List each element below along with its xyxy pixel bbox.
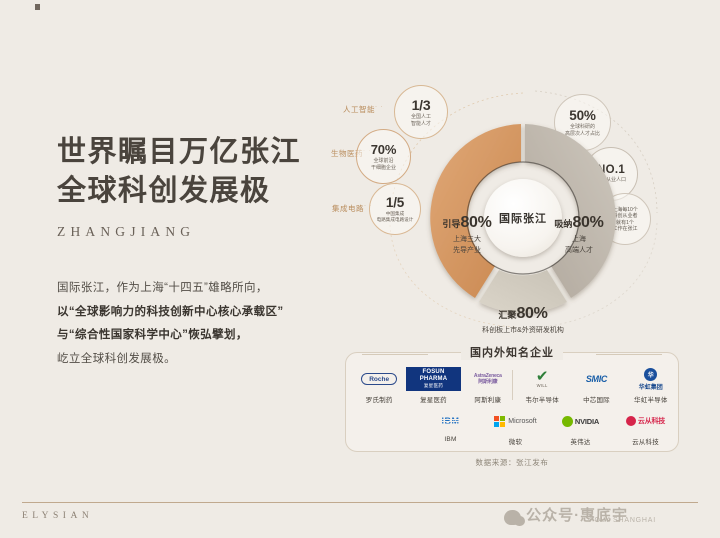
logo-cell-huahong[interactable]: 华华虹集团 华虹半导体 (624, 367, 678, 404)
logo-label: 英伟达 (570, 436, 590, 446)
footer-divider (22, 502, 698, 503)
logo-cell-astrazeneca[interactable]: AstraZeneca阿斯利康 阿斯利康 (461, 367, 515, 404)
segment-label-left: 引导80% 上海三大 先导产业 (419, 213, 515, 256)
bubble-chip-design: 1/5 中国集成电路集成电路设计 (369, 183, 421, 235)
company-panel-title: 国内外知名企业 (461, 344, 563, 360)
logo-label: 韦尔半导体 (525, 394, 559, 404)
donut-infographic: 人工智能 · · 生物医药 · · 集成电路 · · 1/3 全国人工智能人才 … (345, 85, 700, 335)
company-panel: 国内外知名企业 Roche 罗氏制药 FOSUN PHARMA复星医药 复星医药… (345, 352, 679, 452)
body-copy: 国际张江，作为上海“十四五”雄略所向， 以“全球影响力的科技创新中心核心承载区”… (57, 277, 327, 371)
microsoft-logo: Microsoft (494, 409, 536, 433)
logo-label: 中芯国际 (583, 394, 610, 404)
left-text-block: 世界瞩目万亿张江 全球科创发展极 ZHANGJIANG 国际张江，作为上海“十四… (57, 133, 327, 371)
logo-label: 复星医药 (420, 394, 447, 404)
donut-chart: 国际张江 引导80% 上海三大 先导产业 吸纳80% 上海 高端人才 汇聚80%… (423, 118, 623, 318)
page-title: 世界瞩目万亿张江 全球科创发展极 (57, 133, 327, 210)
logo-cell-fosun[interactable]: FOSUN PHARMA复星医药 复星医药 (406, 367, 460, 404)
nvidia-logo: NVIDIA (562, 409, 599, 433)
astrazeneca-logo: AstraZeneca阿斯利康 (474, 367, 502, 391)
logo-cell-weir[interactable]: ✔WILL 韦尔半导体 (515, 367, 569, 404)
wechat-icon (504, 510, 521, 525)
logo-cell-smic[interactable]: SMIC 中芯国际 (569, 367, 623, 404)
sector-tag-ai: 人工智能 · · (343, 104, 375, 115)
segment-label-bottom: 汇聚80% 科创板上市&外资研发机构 (475, 304, 571, 335)
fosun-pharma-logo: FOSUN PHARMA复星医药 (406, 367, 460, 391)
logo-cell-microsoft[interactable]: Microsoft 微软 (483, 409, 548, 446)
poster-page: 世界瞩目万亿张江 全球科创发展极 ZHANGJIANG 国际张江，作为上海“十四… (0, 0, 720, 538)
body-line-2: 以“全球影响力的科技创新中心核心承载区” (57, 301, 327, 325)
ibm-logo: IBM (442, 409, 460, 433)
corner-speck (35, 4, 40, 10)
bubble-stem-cell: 70% 全球前沿干细胞企业 (356, 129, 411, 184)
headline-line-2: 全球科创发展极 (57, 172, 327, 211)
logo-label: 华虹半导体 (634, 394, 668, 404)
logo-cell-roche[interactable]: Roche 罗氏制药 (352, 367, 406, 404)
smic-logo: SMIC (586, 367, 607, 391)
brand-wordmark: ELYSIAN (22, 511, 93, 521)
wechat-sub-label: POLY SHANGHAI (589, 517, 656, 524)
roche-logo: Roche (361, 367, 397, 391)
body-line-4: 屹立全球科创发展极。 (57, 348, 327, 372)
logo-label: 云从科技 (632, 436, 659, 446)
segment-label-right: 吸纳80% 上海 高端人才 (531, 213, 627, 256)
logo-row-1: Roche 罗氏制药 FOSUN PHARMA复星医药 复星医药 AstraZe… (346, 367, 678, 404)
headline-line-1: 世界瞩目万亿张江 (57, 136, 301, 168)
weir-logo: ✔WILL (536, 367, 549, 391)
logo-grid: Roche 罗氏制药 FOSUN PHARMA复星医药 复星医药 AstraZe… (346, 367, 678, 446)
logo-label: 阿斯利康 (474, 394, 501, 404)
logo-row-2: IBM IBM Microsoft 微软 NVIDIA 英伟达 (346, 409, 678, 446)
logo-label: 罗氏制药 (366, 394, 393, 404)
body-line-3: 与“综合性国家科学中心”恢弘擘划， (57, 324, 327, 348)
yuncong-logo: 云从科技 (626, 409, 665, 433)
panel-rule-right (596, 354, 662, 355)
logo-label: IBM (444, 436, 456, 443)
logo-cell-ibm[interactable]: IBM IBM (418, 409, 483, 446)
huahong-logo: 华华虹集团 (639, 367, 663, 391)
logo-label: 微软 (509, 436, 522, 446)
logo-cell-nvidia[interactable]: NVIDIA 英伟达 (548, 409, 613, 446)
wechat-watermark: 公众号·惠底宇 POLY SHANGHAI (504, 504, 700, 525)
subtitle-latin: ZHANGJIANG (57, 224, 327, 240)
logo-cell-yuncong[interactable]: 云从科技 云从科技 (613, 409, 678, 446)
source-note: 数据来源：张江发布 (346, 457, 678, 468)
sector-tag-ic: 集成电路 · · (332, 203, 364, 214)
panel-rule-left (362, 354, 428, 355)
body-line-1: 国际张江，作为上海“十四五”雄略所向， (57, 277, 327, 301)
